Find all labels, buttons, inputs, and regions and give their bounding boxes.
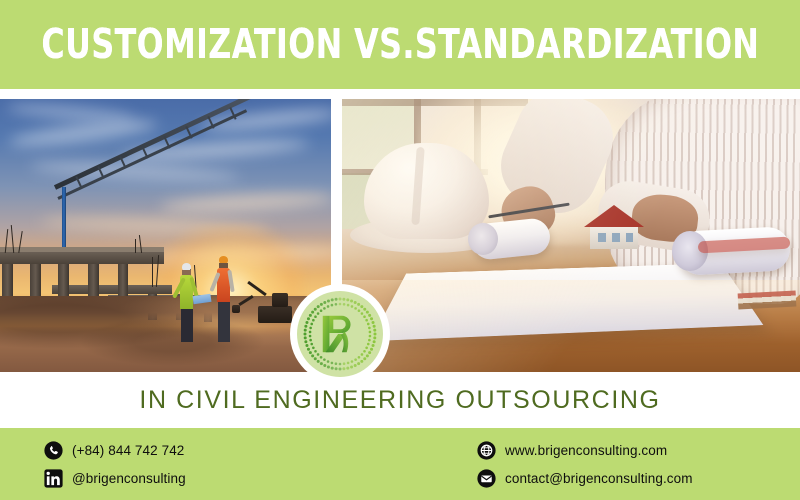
contact-email[interactable]: contact@brigenconsulting.com (477, 469, 800, 488)
br-monogram-icon (317, 311, 363, 357)
contact-website[interactable]: www.brigenconsulting.com (477, 441, 800, 460)
phone-icon (44, 441, 63, 460)
footer-contact-left: (+84) 844 742 742 @brigenconsulting (0, 428, 367, 500)
construction-site-photo (0, 99, 331, 372)
header-band: CUSTOMIZATION VS.STANDARDIZATION (0, 0, 800, 89)
desk-reflection (342, 280, 800, 372)
brand-logo-badge (290, 284, 390, 384)
subtitle-band: IN CIVIL ENGINEERING OUTSOURCING (0, 372, 800, 428)
footer-band: (+84) 844 742 742 @brigenconsulting (0, 428, 800, 500)
engineer-desk-photo (342, 99, 800, 372)
social-media-poster: CUSTOMIZATION VS.STANDARDIZATION (0, 0, 800, 500)
email-icon (477, 469, 496, 488)
contact-website-label: www.brigenconsulting.com (505, 443, 667, 458)
contact-phone-label: (+84) 844 742 742 (72, 443, 184, 458)
contact-linkedin[interactable]: @brigenconsulting (44, 469, 367, 488)
globe-icon (477, 441, 496, 460)
logo-inner-circle (297, 291, 383, 377)
contact-phone[interactable]: (+84) 844 742 742 (44, 441, 367, 460)
contact-linkedin-label: @brigenconsulting (72, 471, 186, 486)
subtitle-text: IN CIVIL ENGINEERING OUTSOURCING (139, 386, 660, 415)
linkedin-icon (44, 469, 63, 488)
page-title: CUSTOMIZATION VS.STANDARDIZATION (41, 24, 759, 65)
hero-image-row (0, 99, 800, 372)
footer-contact-right: www.brigenconsulting.com contact@brigenc… (367, 428, 800, 500)
contact-email-label: contact@brigenconsulting.com (505, 471, 693, 486)
